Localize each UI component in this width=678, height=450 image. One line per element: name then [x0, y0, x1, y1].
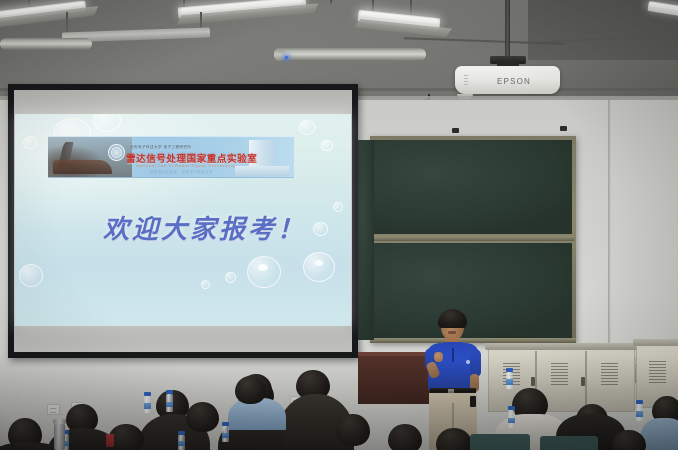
bubble-decoration [303, 252, 335, 282]
locker-vent [551, 363, 568, 385]
locker-handle[interactable] [581, 377, 585, 386]
wall-outlet[interactable] [47, 404, 60, 415]
seat-back [470, 434, 530, 450]
screen-top-margin [14, 90, 352, 114]
bubble-decoration [19, 264, 43, 287]
lecture-hall-photo: EPSON [0, 0, 678, 450]
locker-vent [649, 361, 666, 383]
banner-subtitle-en: National Lab of Radar Signal Processing [136, 163, 235, 168]
projector-pole [505, 0, 510, 58]
phone-red[interactable] [106, 434, 114, 447]
water-bottle[interactable] [178, 435, 185, 450]
blackboard [370, 136, 576, 343]
university-seal-icon [108, 144, 125, 161]
bubble-highlight [315, 260, 323, 266]
screen-bottom-margin [14, 326, 352, 352]
projected-slide: 西安电子科技大学 电子工程研究所 雷达信号处理国家重点实验室 National … [15, 114, 351, 326]
blackboard-mount [452, 128, 459, 133]
locker-top-cap [633, 339, 678, 346]
blackboard-divider-rail [372, 236, 574, 241]
seat-back [540, 436, 598, 450]
light-hanger-rod [410, 0, 412, 14]
audience-head [388, 424, 422, 450]
audience-head [336, 414, 370, 446]
bubble-decoration [23, 136, 37, 149]
light-hanger-rod [330, 0, 332, 4]
locker-top-cap [485, 343, 638, 350]
bubble-highlight [258, 264, 268, 271]
bubble-decoration [299, 120, 315, 135]
water-bottle[interactable] [636, 404, 643, 421]
bubble-decoration [225, 272, 236, 283]
audience-head [235, 376, 266, 404]
water-bottle[interactable] [222, 426, 229, 442]
blackboard-mount [560, 126, 567, 131]
bubble-decoration [247, 256, 281, 288]
light-hanger-rod [66, 12, 68, 34]
banner-subtitle-cn: 国家重点实验室 · 西安电子科技大学 [150, 169, 213, 174]
water-bottle[interactable] [508, 410, 515, 428]
ventilation-duct [276, 48, 426, 61]
screen-surface: 西安电子科技大学 电子工程研究所 雷达信号处理国家重点实验室 National … [14, 90, 352, 352]
presenter-right-arm [470, 349, 481, 377]
presenter-placket [452, 348, 454, 362]
blackboard-panel-lower [374, 243, 572, 338]
bubble-decoration [313, 222, 328, 236]
bubble-decoration [201, 280, 210, 289]
projector-body: EPSON [455, 66, 560, 94]
locker-vent [601, 363, 618, 385]
projection-screen: 西安电子科技大学 电子工程研究所 雷达信号处理国家重点实验室 National … [8, 84, 358, 358]
projector-brand-label: EPSON [497, 77, 531, 86]
projector-vent [464, 75, 468, 86]
presenter-phone-on-belt [470, 396, 476, 407]
slide-headline: 欢迎大家报考！ [103, 209, 306, 246]
water-bottle[interactable] [166, 394, 173, 412]
presenter-glasses [443, 322, 462, 326]
blackboard-panel-left-edge [358, 140, 374, 340]
banner-org-line: 西安电子科技大学 电子工程研究所 [130, 145, 191, 150]
indicator-led [285, 56, 288, 59]
thermos[interactable] [54, 424, 65, 450]
ventilation-duct-left [0, 38, 92, 50]
wall-corner-edge [608, 100, 611, 360]
water-bottle[interactable] [144, 396, 151, 413]
blackboard-panel-upper [374, 140, 572, 234]
audience-head [186, 402, 219, 432]
bubble-decoration [321, 140, 333, 151]
locker-handle[interactable] [531, 377, 535, 386]
presenter-mouth [448, 331, 456, 334]
bubble-decoration [93, 114, 121, 132]
water-bottle[interactable] [506, 372, 513, 389]
bubble-decoration [333, 202, 343, 212]
presenter-left-hand [434, 352, 443, 362]
slide-banner: 西安电子科技大学 电子工程研究所 雷达信号处理国家重点实验室 National … [48, 136, 294, 178]
